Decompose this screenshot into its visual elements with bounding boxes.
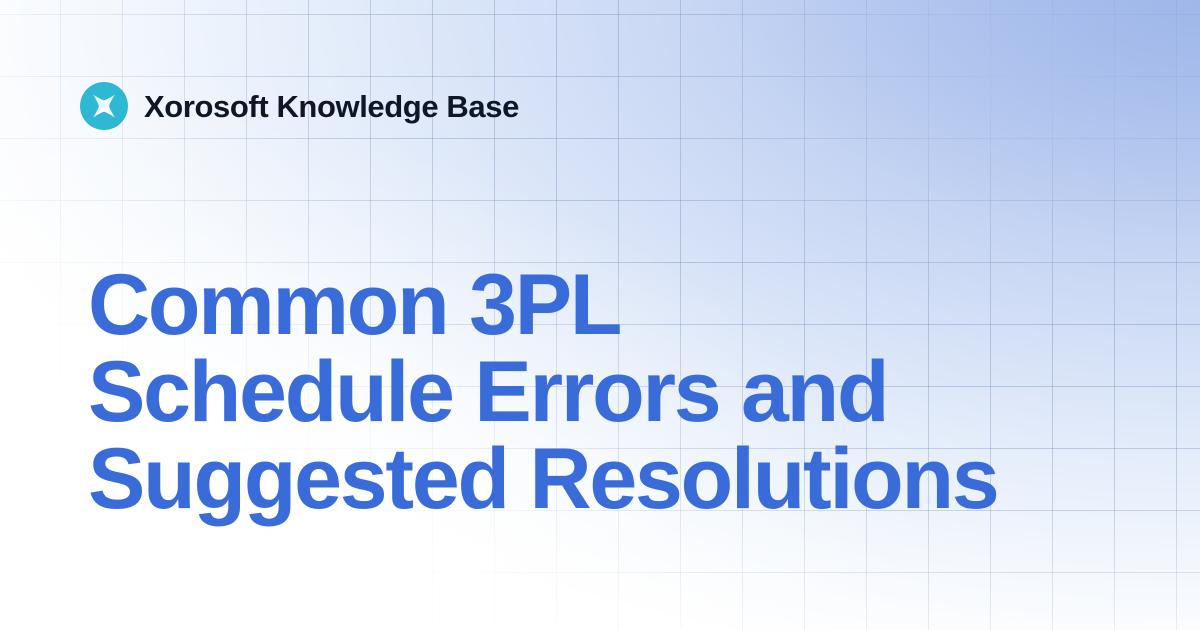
page-title-line-3: Suggested Resolutions bbox=[88, 436, 1148, 523]
xorosoft-star-x-logo-icon bbox=[80, 82, 128, 130]
page-title-line-2: Schedule Errors and bbox=[88, 349, 1148, 436]
og-card: Xorosoft Knowledge Base Common 3PL Sched… bbox=[0, 0, 1200, 630]
page-title-line-1: Common 3PL bbox=[88, 262, 1148, 349]
card-content: Xorosoft Knowledge Base Common 3PL Sched… bbox=[0, 0, 1200, 630]
brand-title: Xorosoft Knowledge Base bbox=[144, 91, 519, 122]
brand-lockup: Xorosoft Knowledge Base bbox=[80, 80, 519, 132]
page-title: Common 3PL Schedule Errors and Suggested… bbox=[88, 262, 1148, 523]
